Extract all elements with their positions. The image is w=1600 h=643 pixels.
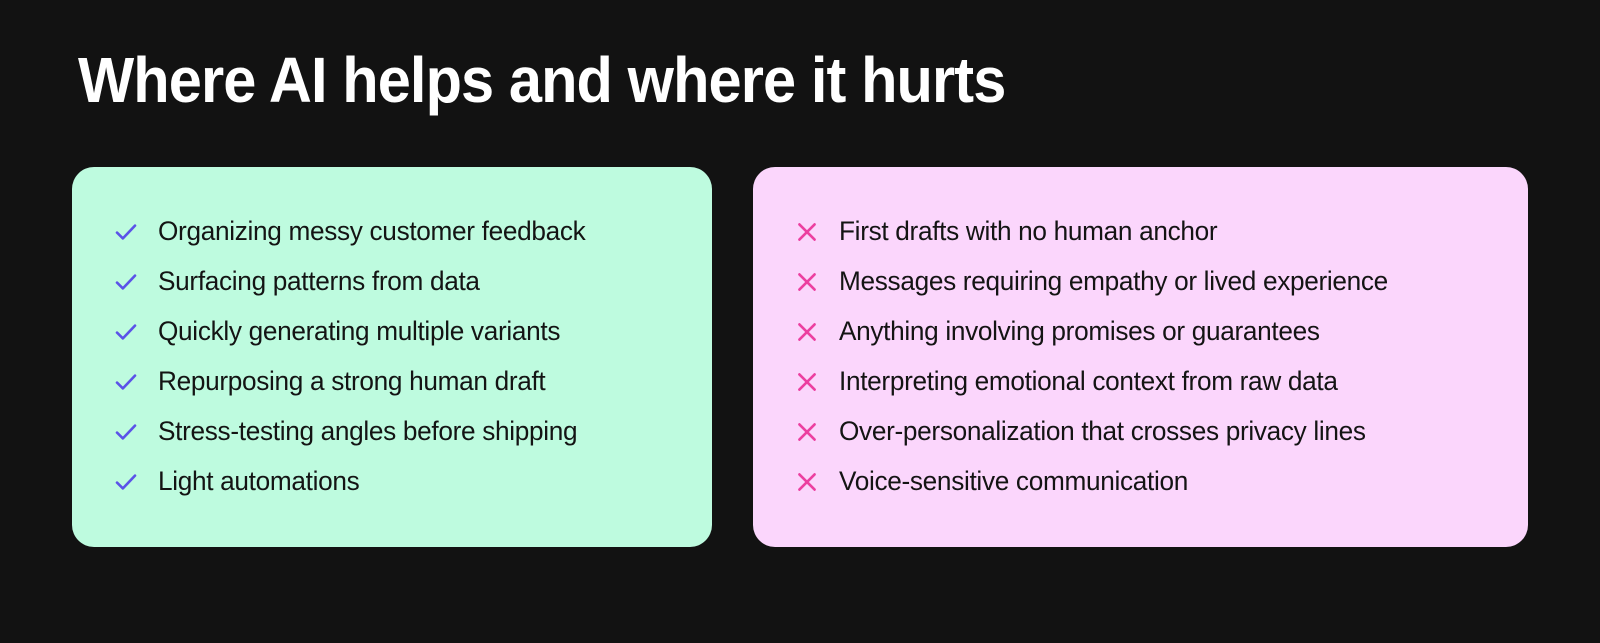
list-item: Interpreting emotional context from raw … [791,357,1494,407]
list-item: Anything involving promises or guarantee… [791,307,1494,357]
cross-icon [791,319,839,345]
list-item-label: Light automations [158,466,359,497]
cross-icon [791,419,839,445]
cross-icon [791,369,839,395]
list-item: Voice-sensitive communication [791,457,1494,507]
list-item: Quickly generating multiple variants [110,307,678,357]
cross-icon [791,219,839,245]
list-item: Organizing messy customer feedback [110,207,678,257]
check-icon [110,319,158,345]
list-item: Repurposing a strong human draft [110,357,678,407]
list-item-label: Stress-testing angles before shipping [158,416,577,447]
list-item-label: Organizing messy customer feedback [158,216,585,247]
cross-icon [791,469,839,495]
ai-hurts-card: First drafts with no human anchor Messag… [753,167,1528,547]
list-item-label: Repurposing a strong human draft [158,366,545,397]
list-item: Surfacing patterns from data [110,257,678,307]
ai-helps-card: Organizing messy customer feedback Surfa… [72,167,712,547]
check-icon [110,419,158,445]
slide-root: Where AI helps and where it hurts Organi… [0,0,1600,643]
list-item: Light automations [110,457,678,507]
check-icon [110,219,158,245]
list-item-label: Quickly generating multiple variants [158,316,560,347]
list-item-label: Over-personalization that crosses privac… [839,416,1366,447]
list-item: Stress-testing angles before shipping [110,407,678,457]
check-icon [110,369,158,395]
ai-helps-list: Organizing messy customer feedback Surfa… [110,207,678,507]
cross-icon [791,269,839,295]
list-item-label: Anything involving promises or guarantee… [839,316,1320,347]
list-item-label: First drafts with no human anchor [839,216,1217,247]
list-item: Over-personalization that crosses privac… [791,407,1494,457]
check-icon [110,269,158,295]
ai-hurts-list: First drafts with no human anchor Messag… [791,207,1494,507]
page-title: Where AI helps and where it hurts [78,48,1005,112]
list-item: First drafts with no human anchor [791,207,1494,257]
list-item-label: Interpreting emotional context from raw … [839,366,1338,397]
list-item: Messages requiring empathy or lived expe… [791,257,1494,307]
check-icon [110,469,158,495]
list-item-label: Surfacing patterns from data [158,266,480,297]
list-item-label: Voice-sensitive communication [839,466,1188,497]
comparison-cards: Organizing messy customer feedback Surfa… [72,167,1528,547]
list-item-label: Messages requiring empathy or lived expe… [839,266,1388,297]
